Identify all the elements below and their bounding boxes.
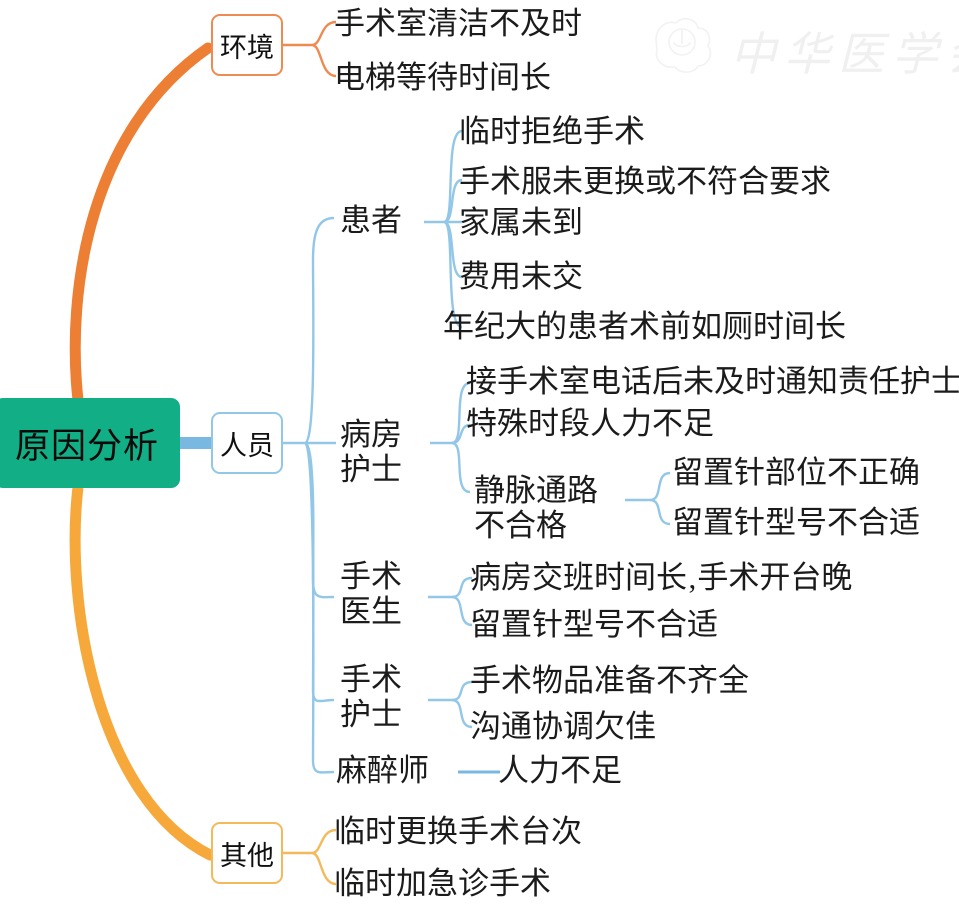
edge-surgeon-child-2 [452,597,472,625]
leaf-patient-1[interactable]: 临时拒绝手术 [459,114,645,150]
sub-branch-scrub-nurse[interactable]: 手术 护士 [340,663,402,732]
leaf-scrub-nurse-1[interactable]: 手术物品准备不齐全 [470,663,749,699]
leaf-surgeon-1[interactable]: 病房交班时间长‚手术开台晚 [470,560,852,596]
edge-environment-child-1 [312,22,336,45]
edge-vein-child-1 [650,473,670,500]
edge-other-child-1 [312,830,336,853]
watermark-seal-icon [648,12,948,84]
edge-vein-child-2 [650,500,670,524]
edge-other-child-2 [312,853,336,884]
branch-node-staff[interactable]: 人员 [211,412,283,474]
sub-branch-patient[interactable]: 患者 [340,203,402,239]
leaf-patient-5[interactable]: 年纪大的患者术前如厕时间长 [443,309,846,345]
edge-root-to-other [75,487,210,855]
edge-staff-to-surgeon [305,443,334,597]
leaf-other-2[interactable]: 临时加急诊手术 [334,866,551,902]
leaf-surgeon-2[interactable]: 留置针型号不合适 [470,607,718,643]
branch-node-other[interactable]: 其他 [211,822,283,884]
root-node-label: 原因分析 [15,418,159,469]
branch-node-environment[interactable]: 环境 [211,14,283,76]
watermark-text: 中华医学会 [730,18,959,84]
mindmap-canvas: 中华医学会 原因分析 环境 人员 其他 手术室清洁不及时 电梯等待时间长 患者 … [0,0,959,907]
leaf-other-1[interactable]: 临时更换手术台次 [334,814,582,850]
edge-scrub-nurse-child-2 [452,700,472,727]
leaf-patient-2[interactable]: 手术服未更换或不符合要求 [459,164,831,200]
leaf-anesthetist-1[interactable]: 人力不足 [498,753,622,789]
leaf-environment-2[interactable]: 电梯等待时间长 [334,60,551,96]
leaf-ward-nurse-1[interactable]: 接手术室电话后未及时通知责任护士 [466,364,959,400]
sub-branch-anesthetist[interactable]: 麻醉师 [336,753,429,789]
root-node[interactable]: 原因分析 [0,398,180,488]
edge-environment-child-2 [312,45,336,76]
branch-node-other-label: 其他 [220,834,274,873]
leaf-patient-4[interactable]: 费用未交 [459,259,583,295]
edge-surgeon-child-1 [452,578,472,597]
leaf-ward-nurse-2[interactable]: 特殊时段人力不足 [466,406,714,442]
edge-staff-to-anesthetist [305,443,334,772]
branch-node-staff-label: 人员 [220,424,274,463]
edge-ward-nurse-child-3 [452,443,470,492]
sub-branch-ward-nurse[interactable]: 病房 护士 [340,418,402,487]
leaf-vein-2[interactable]: 留置针型号不合适 [672,505,920,541]
edge-staff-to-scrub-nurse [305,443,334,701]
leaf-vein-1[interactable]: 留置针部位不正确 [672,455,920,491]
sub-branch-surgeon[interactable]: 手术 医生 [340,560,402,629]
edge-root-to-environment [75,48,208,400]
branch-node-environment-label: 环境 [220,26,274,65]
watermark: 中华医学会 [648,12,948,84]
sub-branch-vein-access[interactable]: 静脉通路 不合格 [474,474,598,543]
leaf-scrub-nurse-2[interactable]: 沟通协调欠佳 [470,709,656,745]
edge-staff-to-patient [305,218,334,443]
edge-scrub-nurse-child-1 [452,682,472,700]
leaf-patient-3[interactable]: 家属未到 [459,205,583,241]
leaf-environment-1[interactable]: 手术室清洁不及时 [334,6,582,42]
